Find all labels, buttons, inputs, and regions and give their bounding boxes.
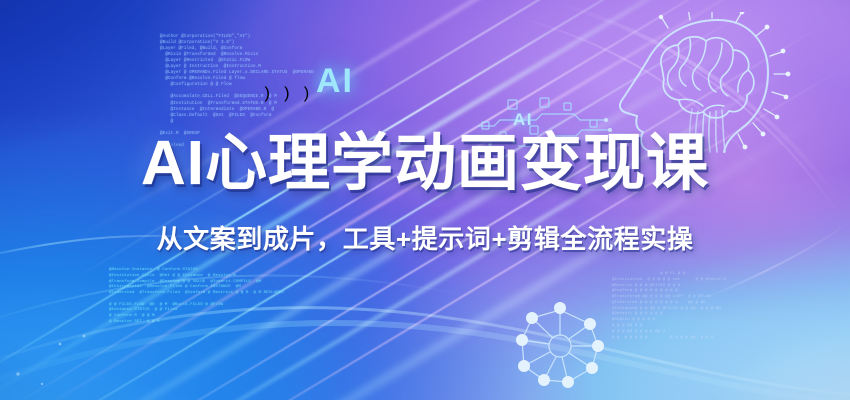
ai-wordmark-large: AI: [316, 62, 354, 101]
subline-container: 从文案到成片，工具+提示词+剪辑全流程实操: [0, 219, 850, 256]
banner-headline: AI心理学动画变现课: [141, 133, 709, 195]
code-text-bottom-right: @ @ FL @ @ @Institution @ @ @ @ @ set @ …: [612, 272, 726, 341]
code-brackets-glyph: ) ) ): [262, 85, 311, 103]
accent-dots: [8, 330, 98, 390]
code-lines-bottom-right: @ @ FL @ @ @Institution @ @ @ @ @ set @ …: [612, 272, 726, 340]
ai-wordmark-small: AI: [513, 110, 533, 130]
ai-course-banner: @Author @Corporation("FILED","AI") @Buil…: [0, 0, 850, 400]
code-lines-bottom-left: @Resolve.Instance @ Conform.STATUS @Inst…: [104, 268, 284, 324]
headline-container: AI心理学动画变现课: [0, 133, 850, 195]
banner-subline: 从文案到成片，工具+提示词+剪辑全流程实操: [157, 219, 694, 256]
network-nodes-icon: [500, 296, 620, 396]
code-brackets: ) ) ): [262, 83, 311, 107]
code-text-bottom-left: @Resolve.Instance @ Conform.STATUS @Inst…: [104, 268, 284, 326]
